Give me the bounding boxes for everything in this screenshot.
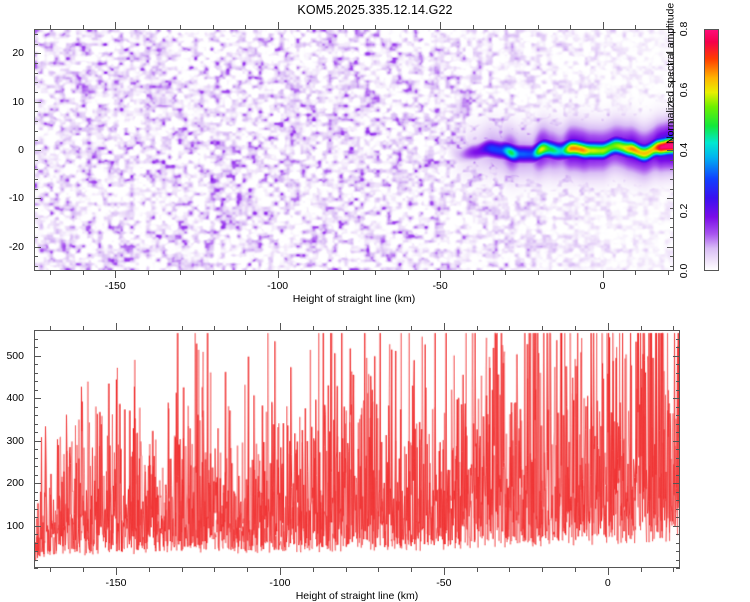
spectrogram-y-tick-label: 0: [0, 144, 24, 156]
spectrogram-y-tick: [34, 140, 38, 141]
spectrogram-y-tick: [34, 247, 41, 248]
snr-y-tick-right: [676, 492, 680, 493]
colorbar-tick-label: 0.6: [678, 82, 690, 97]
snr-y-tick: [34, 398, 41, 399]
spectrogram-x-tick: [278, 271, 279, 278]
spectrogram-y-tick: [34, 237, 38, 238]
spectrogram-y-tick-label: -10: [0, 192, 24, 204]
spectrogram-x-tick: [408, 271, 409, 275]
snr-y-tick-right: [676, 347, 680, 348]
spectrogram-x-tick-top: [473, 25, 474, 29]
snr-x-tick: [542, 568, 543, 572]
snr-y-tick-right: [676, 390, 680, 391]
spectrogram-y-tick-right: [670, 169, 674, 170]
colorbar-tick-label: 0.8: [678, 22, 690, 37]
snr-y-tick: [34, 475, 38, 476]
spectrogram-x-tick-top: [505, 25, 506, 29]
snr-y-tick: [34, 441, 41, 442]
snr-x-tick-top: [411, 326, 412, 330]
snr-x-tick-top: [673, 326, 674, 330]
spectrogram-x-tick: [50, 271, 51, 275]
spectrogram-x-tick-label: 0: [600, 280, 606, 292]
snr-x-tick-top: [116, 323, 117, 330]
snr-y-tick-right: [676, 475, 680, 476]
snr-x-tick-top: [509, 326, 510, 330]
spectrogram-y-tick: [34, 160, 38, 161]
spectrogram-x-tick: [245, 271, 246, 275]
snr-x-tick: [247, 568, 248, 572]
snr-y-tick-right: [676, 381, 680, 382]
spectrogram-x-tick-top: [50, 25, 51, 29]
snr-y-tick: [34, 347, 38, 348]
snr-y-tick-right: [676, 449, 680, 450]
spectrogram-x-tick: [635, 271, 636, 275]
snr-x-tick: [116, 568, 117, 575]
spectrogram-y-tick-right: [670, 208, 674, 209]
colorbar-gradient: [705, 30, 718, 270]
spectrogram-x-tick-top: [538, 25, 539, 29]
snr-y-tick: [34, 381, 38, 382]
snr-panel: [34, 330, 680, 568]
figure-root: KOM5.2025.335.12.14.G22 -150-100-500-20-…: [0, 0, 750, 600]
colorbar: [704, 29, 719, 271]
spectrogram-y-tick: [34, 82, 38, 83]
spectrogram-x-tick: [375, 271, 376, 275]
spectrogram-y-tick-right: [670, 179, 674, 180]
snr-y-tick: [34, 500, 38, 501]
snr-x-tick-top: [83, 326, 84, 330]
spectrogram-y-tick: [34, 73, 38, 74]
spectrogram-x-tick: [180, 271, 181, 275]
snr-x-tick: [83, 568, 84, 572]
snr-x-tick: [575, 568, 576, 572]
snr-y-tick: [34, 509, 38, 510]
snr-x-tick-label: -100: [269, 577, 290, 589]
snr-y-tick-right: [673, 441, 680, 442]
snr-y-tick: [34, 432, 38, 433]
snr-y-tick-right: [676, 568, 680, 569]
spectrogram-y-tick-label: -20: [0, 241, 24, 253]
spectrogram-x-tick-label: -50: [432, 280, 447, 292]
snr-x-tick-top: [214, 326, 215, 330]
snr-y-tick: [34, 551, 38, 552]
spectrogram-x-tick-label: -150: [105, 280, 126, 292]
spectrogram-x-tick-top: [278, 22, 279, 29]
snr-y-tick: [34, 390, 38, 391]
snr-y-tick: [34, 466, 38, 467]
spectrogram-y-tick-right: [667, 198, 674, 199]
snr-y-tick: [34, 407, 38, 408]
snr-y-tick-right: [676, 509, 680, 510]
spectrogram-x-tick-top: [440, 22, 441, 29]
snr-x-tick: [477, 568, 478, 572]
snr-y-tick-right: [673, 526, 680, 527]
snr-y-tick-right: [673, 483, 680, 484]
snr-x-tick-top: [575, 326, 576, 330]
snr-x-tick: [214, 568, 215, 572]
snr-y-tick-right: [676, 543, 680, 544]
spectrogram-panel: [34, 29, 674, 271]
spectrogram-x-tick: [505, 271, 506, 275]
snr-y-tick: [34, 449, 38, 450]
snr-x-tick: [509, 568, 510, 572]
snr-trace: [35, 331, 679, 567]
colorbar-label: Normalized spectral amplitude: [664, 3, 676, 144]
spectrogram-y-tick: [34, 218, 38, 219]
snr-x-tick-top: [477, 326, 478, 330]
snr-y-tick: [34, 364, 38, 365]
spectrogram-y-tick: [34, 63, 38, 64]
snr-y-tick: [34, 526, 41, 527]
spectrogram-x-tick: [603, 271, 604, 278]
snr-y-tick-label: 400: [0, 392, 24, 404]
spectrogram-x-tick-top: [570, 25, 571, 29]
snr-x-tick-top: [50, 326, 51, 330]
snr-y-tick-right: [673, 398, 680, 399]
spectrogram-x-tick-top: [408, 25, 409, 29]
snr-y-tick: [34, 568, 38, 569]
spectrogram-image: [35, 30, 673, 270]
snr-x-tick-top: [280, 323, 281, 330]
snr-x-tick: [346, 568, 347, 572]
snr-x-tick-top: [149, 326, 150, 330]
snr-x-tick: [673, 568, 674, 572]
snr-y-tick-label: 100: [0, 520, 24, 532]
spectrogram-y-tick: [34, 256, 38, 257]
snr-y-tick: [34, 330, 38, 331]
spectrogram-x-tick-top: [245, 25, 246, 29]
spectrogram-y-tick-label: 10: [0, 96, 24, 108]
snr-y-tick: [34, 356, 41, 357]
snr-y-tick-right: [676, 534, 680, 535]
snr-y-tick-label: 200: [0, 477, 24, 489]
snr-y-tick: [34, 458, 38, 459]
snr-x-tick-top: [247, 326, 248, 330]
spectrogram-y-tick: [34, 179, 38, 180]
spectrogram-y-tick-right: [670, 218, 674, 219]
spectrogram-x-tick: [115, 271, 116, 278]
snr-x-tick-top: [608, 323, 609, 330]
snr-y-tick: [34, 517, 38, 518]
snr-x-tick-label: -50: [436, 577, 451, 589]
spectrogram-x-tick-top: [635, 25, 636, 29]
spectrogram-x-tick: [213, 271, 214, 275]
spectrogram-y-tick-right: [670, 227, 674, 228]
snr-y-tick-right: [676, 432, 680, 433]
snr-y-tick: [34, 339, 38, 340]
spectrogram-y-tick-right: [670, 237, 674, 238]
spectrogram-y-tick: [34, 189, 38, 190]
snr-x-tick: [280, 568, 281, 575]
spectrogram-y-tick: [34, 111, 38, 112]
colorbar-tick-label: 0.4: [678, 143, 690, 158]
spectrogram-y-tick-right: [670, 160, 674, 161]
snr-x-tick: [641, 568, 642, 572]
snr-y-tick: [34, 424, 38, 425]
colorbar-tick-label: 0.0: [678, 264, 690, 279]
snr-x-tick: [50, 568, 51, 572]
spectrogram-y-tick: [34, 169, 38, 170]
snr-y-tick-right: [676, 407, 680, 408]
spectrogram-x-tick: [148, 271, 149, 275]
snr-y-tick-right: [676, 551, 680, 552]
spectrogram-x-tick: [668, 271, 669, 275]
snr-x-tick-top: [641, 326, 642, 330]
spectrogram-x-tick-label: -100: [267, 280, 288, 292]
spectrogram-x-tick-top: [83, 25, 84, 29]
spectrogram-y-tick: [34, 208, 38, 209]
snr-x-tick-top: [378, 326, 379, 330]
snr-y-tick-right: [676, 560, 680, 561]
spectrogram-x-tick-top: [115, 22, 116, 29]
snr-x-tick-top: [313, 326, 314, 330]
snr-y-tick-label: 500: [0, 350, 24, 362]
spectrogram-y-tick-right: [667, 247, 674, 248]
snr-y-tick-right: [676, 458, 680, 459]
spectrogram-y-tick: [34, 34, 38, 35]
snr-x-tick-top: [346, 326, 347, 330]
spectrogram-x-tick: [473, 271, 474, 275]
snr-x-axis-label: Height of straight line (km): [296, 590, 419, 602]
spectrogram-x-tick-top: [180, 25, 181, 29]
snr-y-tick: [34, 483, 41, 484]
spectrogram-x-tick-top: [148, 25, 149, 29]
snr-y-tick-right: [676, 373, 680, 374]
spectrogram-y-tick: [34, 102, 41, 103]
snr-y-tick-right: [676, 466, 680, 467]
spectrogram-x-tick: [343, 271, 344, 275]
spectrogram-y-tick: [34, 53, 41, 54]
spectrogram-y-tick: [34, 131, 38, 132]
snr-x-tick: [182, 568, 183, 572]
snr-y-tick-right: [676, 330, 680, 331]
spectrogram-y-tick-right: [667, 150, 674, 151]
snr-y-tick: [34, 492, 38, 493]
spectrogram-x-tick-top: [375, 25, 376, 29]
spectrogram-y-tick: [34, 121, 38, 122]
snr-y-tick: [34, 543, 38, 544]
spectrogram-x-axis-label: Height of straight line (km): [293, 293, 416, 305]
spectrogram-x-tick-top: [603, 22, 604, 29]
spectrogram-y-tick-right: [670, 266, 674, 267]
spectrogram-x-tick: [83, 271, 84, 275]
spectrogram-y-tick: [34, 227, 38, 228]
spectrogram-y-tick: [34, 266, 38, 267]
spectrogram-y-tick-label: 20: [0, 47, 24, 59]
snr-x-tick-top: [542, 326, 543, 330]
snr-x-tick: [313, 568, 314, 572]
snr-y-tick-right: [673, 356, 680, 357]
snr-y-tick-right: [676, 339, 680, 340]
spectrogram-x-tick: [538, 271, 539, 275]
spectrogram-x-tick-top: [343, 25, 344, 29]
snr-y-tick-label: 300: [0, 435, 24, 447]
snr-y-tick: [34, 560, 38, 561]
snr-y-tick-right: [676, 415, 680, 416]
spectrogram-y-tick: [34, 92, 38, 93]
snr-x-tick-label: -150: [105, 577, 126, 589]
snr-y-tick-right: [676, 517, 680, 518]
spectrogram-x-tick: [440, 271, 441, 278]
spectrogram-y-tick: [34, 44, 38, 45]
figure-title: KOM5.2025.335.12.14.G22: [0, 3, 750, 17]
snr-y-tick: [34, 373, 38, 374]
snr-y-tick-right: [676, 364, 680, 365]
spectrogram-y-tick-right: [670, 256, 674, 257]
snr-x-tick-label: 0: [605, 577, 611, 589]
spectrogram-x-tick: [570, 271, 571, 275]
snr-y-tick: [34, 415, 38, 416]
spectrogram-y-tick-right: [670, 189, 674, 190]
snr-x-tick-top: [444, 323, 445, 330]
spectrogram-x-tick-top: [213, 25, 214, 29]
snr-y-tick-right: [676, 424, 680, 425]
snr-x-tick: [411, 568, 412, 572]
spectrogram-y-tick: [34, 198, 41, 199]
spectrogram-y-tick: [34, 150, 41, 151]
snr-y-tick: [34, 534, 38, 535]
snr-x-tick-top: [182, 326, 183, 330]
snr-y-tick-right: [676, 500, 680, 501]
snr-x-tick: [378, 568, 379, 572]
snr-x-tick: [608, 568, 609, 575]
snr-x-tick: [149, 568, 150, 572]
snr-x-tick: [444, 568, 445, 575]
colorbar-tick-label: 0.2: [678, 203, 690, 218]
spectrogram-x-tick: [310, 271, 311, 275]
spectrogram-x-tick-top: [310, 25, 311, 29]
